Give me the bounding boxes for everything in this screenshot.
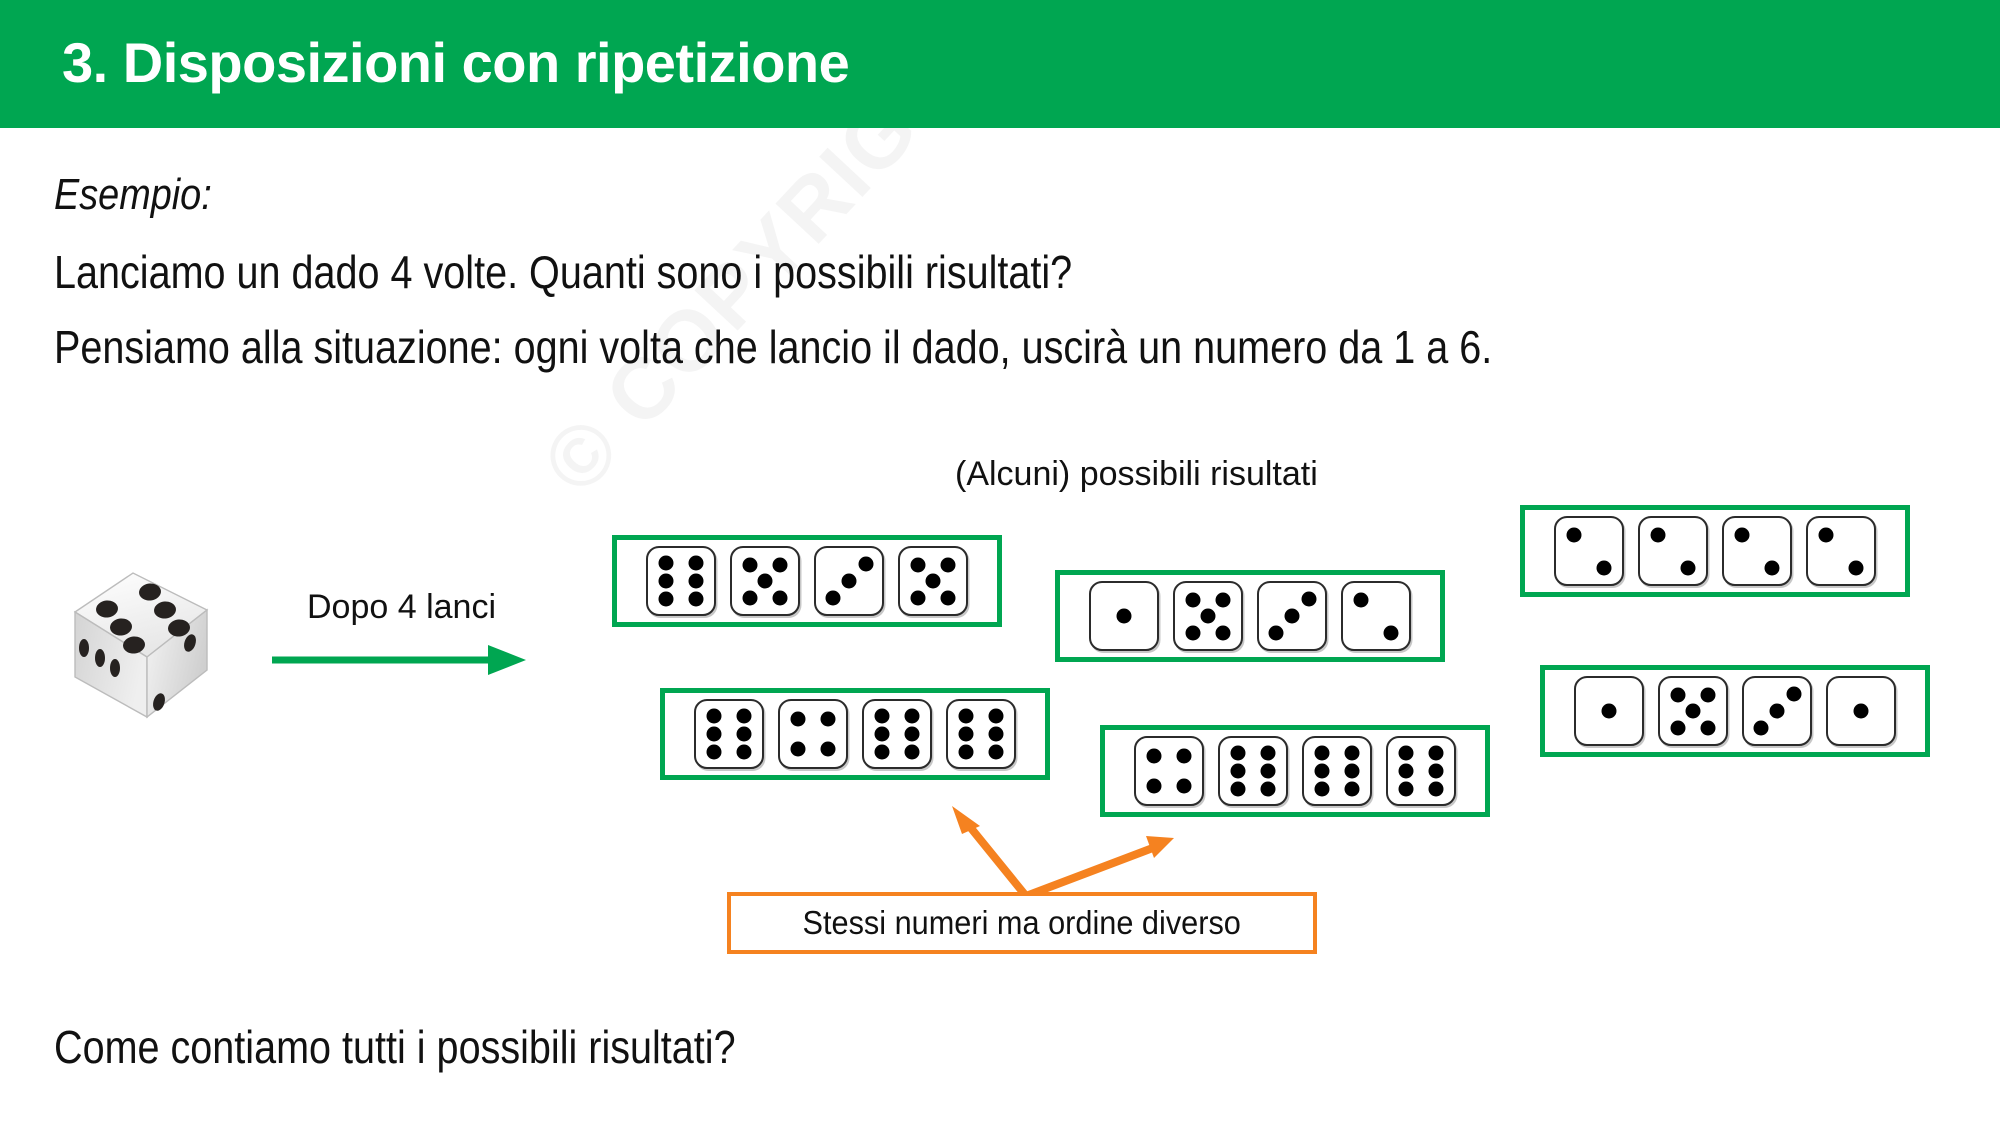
die-pip [859,556,874,571]
die-pip [1285,609,1300,624]
die-pip [688,592,703,607]
callout-box: Stessi numeri ma ordine diverso [727,892,1317,954]
die-pip [1315,782,1330,797]
die-pip [910,557,925,572]
die-face-4 [778,699,848,769]
die-pip [875,727,890,742]
die-pip [1268,626,1283,641]
die-pip [820,742,835,757]
die-face-2 [1806,516,1876,586]
die-face-1 [1089,581,1159,651]
die-face-6 [862,699,932,769]
die-pip [1770,704,1785,719]
die-pip [875,745,890,760]
die-pip [1176,779,1191,794]
die-pip [791,742,806,757]
die-pip [773,557,788,572]
die-pip [659,555,674,570]
slide-canvas: © COPYRIGHT 2015 StudiaRex Srl 3. Dispos… [0,0,2000,1125]
transition-arrow-icon [270,640,530,680]
die-pip [742,557,757,572]
die-pip [926,574,941,589]
question-line-1: Lanciamo un dado 4 volte. Quanti sono i … [54,245,1072,299]
die-pip [988,708,1003,723]
die-pip [1787,686,1802,701]
die-pip [959,708,974,723]
callout-arrows-icon [930,800,1220,900]
closing-question: Come contiamo tutti i possibili risultat… [54,1020,736,1074]
die-face-6 [694,699,764,769]
die-pip [1117,609,1132,624]
die-pip [1147,779,1162,794]
die-face-6 [1302,736,1372,806]
die-pip [707,727,722,742]
die-face-6 [1218,736,1288,806]
die-face-5 [730,546,800,616]
die-pip [1428,764,1443,779]
die-pip [1344,782,1359,797]
callout-text: Stessi numeri ma ordine diverso [803,904,1241,942]
die-face-3 [1257,581,1327,651]
die-pip [1260,782,1275,797]
dice-group-top-left [612,535,1002,627]
die-pip [941,557,956,572]
die-pip [758,574,773,589]
die-pip [736,727,751,742]
die-pip [1260,764,1275,779]
die-face-2 [1638,516,1708,586]
die-pip [736,708,751,723]
die-pip [707,708,722,723]
die-face-6 [646,546,716,616]
die-pip [988,745,1003,760]
die-pip [1849,560,1864,575]
die-pip [1818,527,1833,542]
die-pip [1701,720,1716,735]
dice-group-top-right [1520,505,1910,597]
die-pip [904,708,919,723]
die-pip [959,727,974,742]
die-pip [1686,704,1701,719]
die-pip [1353,592,1368,607]
die-pip [659,574,674,589]
question-line-2: Pensiamo alla situazione: ogni volta che… [54,320,1492,374]
die-pip [1344,745,1359,760]
die-pip [773,590,788,605]
die-pip [1216,592,1231,607]
die-pip [688,555,703,570]
dice-group-bottom-right [1540,665,1930,757]
die-pip [1185,592,1200,607]
die-pip [1231,782,1246,797]
die-pip [1344,764,1359,779]
die-pip [688,574,703,589]
die-face-6 [1386,736,1456,806]
die-face-5 [1173,581,1243,651]
die-pip [1399,745,1414,760]
die-pip [1147,748,1162,763]
die-pip [1428,745,1443,760]
die-pip [659,592,674,607]
die-pip [1753,721,1768,736]
die-pip [707,745,722,760]
die-pip [904,745,919,760]
die-face-6 [946,699,1016,769]
die-pip [959,745,974,760]
die-pip [1602,704,1617,719]
die-pip [941,590,956,605]
die-pip [904,727,919,742]
die-face-1 [1574,676,1644,746]
die-face-5 [898,546,968,616]
die-pip [988,727,1003,742]
die-face-2 [1341,581,1411,651]
die-pip [1765,560,1780,575]
die-pip [1734,527,1749,542]
results-caption: (Alcuni) possibili risultati [955,455,1318,494]
die-pip [1670,720,1685,735]
die-pip [825,591,840,606]
die-pip [1701,687,1716,702]
dice-group-bottom-left [660,688,1050,780]
die-pip [1315,764,1330,779]
die-pip [1201,609,1216,624]
die-pip [1384,625,1399,640]
die-pip [910,590,925,605]
dice-group-top-center [1055,570,1445,662]
die-pip [1216,625,1231,640]
die-face-3 [1742,676,1812,746]
die-face-2 [1722,516,1792,586]
die-pip [1176,748,1191,763]
die-pip [1302,591,1317,606]
die-pip [1231,764,1246,779]
die-pip [1315,745,1330,760]
die-pip [875,708,890,723]
die-pip [1597,560,1612,575]
header-bar: 3. Disposizioni con ripetizione [0,0,2000,128]
example-label: Esempio: [54,170,212,220]
die-face-4 [1134,736,1204,806]
die-pip [1231,745,1246,760]
die-pip [1185,625,1200,640]
die-pip [1854,704,1869,719]
die-face-3 [814,546,884,616]
die-pip [1681,560,1696,575]
die-face-2 [1554,516,1624,586]
die-pip [1399,782,1414,797]
die-pip [1260,745,1275,760]
arrow-label: Dopo 4 lanci [307,588,496,627]
die-pip [1670,687,1685,702]
source-die-3d-icon [55,565,230,725]
die-pip [1566,527,1581,542]
die-pip [742,590,757,605]
die-face-5 [1658,676,1728,746]
die-pip [736,745,751,760]
die-pip [1650,527,1665,542]
page-title: 3. Disposizioni con ripetizione [62,30,849,95]
die-pip [791,711,806,726]
die-pip [842,574,857,589]
die-pip [1399,764,1414,779]
die-face-1 [1826,676,1896,746]
die-pip [1428,782,1443,797]
die-pip [820,711,835,726]
